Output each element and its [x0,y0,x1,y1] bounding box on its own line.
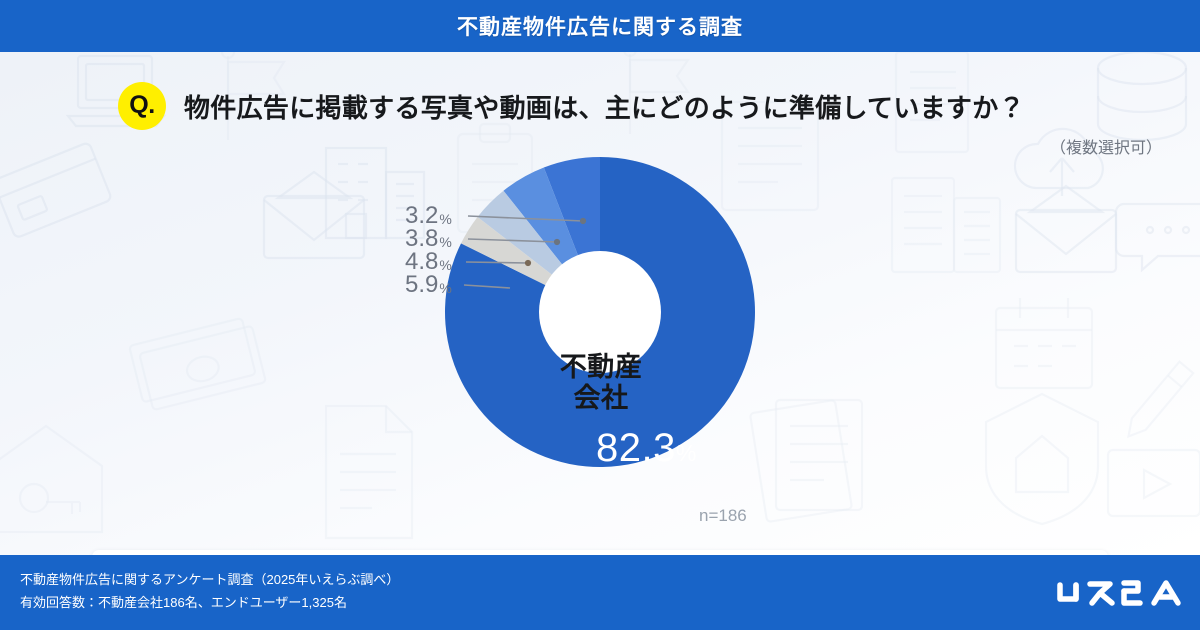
callout-number-3: 5.9 [405,273,438,297]
footer-source-text: 不動産物件広告に関するアンケート調査（2025年いえらぶ調べ） 有効回答数：不動… [20,569,399,615]
question-text: 物件広告に掲載する写真や動画は、主にどのように準備していますか？ [184,88,1025,125]
callout-value-3: 5.9% [405,273,452,297]
header-bar: 不動産物件広告に関する調査 [0,0,1200,52]
leader-line-3 [464,285,510,288]
footer-bar: 不動産物件広告に関するアンケート調査（2025年いえらぶ調べ） 有効回答数：不動… [0,555,1200,630]
infographic-slide: 不動産物件広告に関する調査 [0,0,1200,630]
leader-line-1 [468,239,557,242]
question-badge-label: Q. [129,91,154,120]
callout-unit-2: % [439,258,451,272]
leader-line-0 [468,216,583,221]
content-canvas: Q. 物件広告に掲載する写真や動画は、主にどのように準備していますか？ （複数選… [0,52,1200,555]
footer-line-1: 不動産物件広告に関するアンケート調査（2025年いえらぶ調べ） [20,569,399,592]
ielove-logo[interactable] [1054,573,1182,613]
question-note: （複数選択可） [1050,134,1162,158]
question-row: Q. 物件広告に掲載する写真や動画は、主にどのように準備していますか？ [118,82,1025,130]
callout-unit-3: % [439,281,451,295]
footer-line-2: 有効回答数：不動産会社186名、エンドユーザー1,325名 [20,592,399,615]
leader-line-2 [466,262,528,263]
page-title: 不動産物件広告に関する調査 [457,11,743,41]
callout-unit-1: % [439,235,451,249]
question-badge: Q. [118,82,166,130]
callout-unit-0: % [439,212,451,226]
ielove-logo-mark [1054,573,1182,613]
